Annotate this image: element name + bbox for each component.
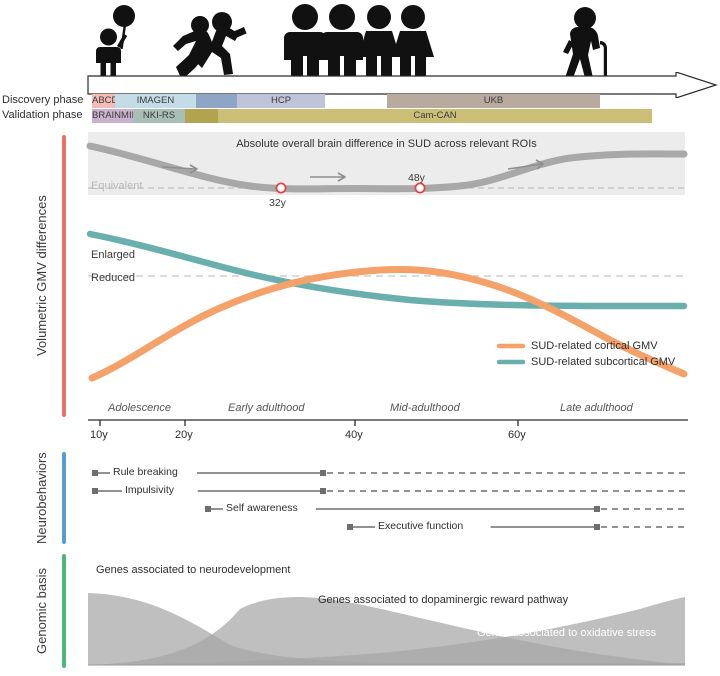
validation-phase-bar[interactable]: BRAINMINTNKI-RSCam-CAN — [0, 109, 720, 123]
phase-segment-label-cam-can: Cam-CAN — [218, 109, 652, 122]
neurobehavior-start-marker — [92, 470, 98, 476]
neurobehavior-label-self-awareness: Self awareness — [226, 502, 298, 514]
era-label-mid-adulthood: Mid-adulthood — [390, 402, 460, 414]
neurobehavior-end-marker — [320, 470, 326, 476]
era-label-early-adulthood: Early adulthood — [228, 402, 304, 414]
tick-label-40y: 40y — [345, 429, 363, 441]
running-adolescents-icon — [173, 12, 247, 80]
elderly-with-cane-icon — [563, 7, 607, 78]
neurobehavior-label-executive-function: Executive function — [378, 520, 463, 532]
era-label-adolescence: Adolescence — [108, 402, 171, 414]
tick-label-10y: 10y — [90, 429, 108, 441]
child-with-balloon-icon — [96, 5, 135, 77]
phase-segment-validation-2[interactable] — [185, 109, 218, 123]
legend-swatches — [497, 340, 527, 370]
neurobehaviors-panel: Rule breakingImpulsivitySelf awarenessEx… — [0, 460, 720, 542]
genomic-label-neurodevelopment: Genes associated to neurodevelopment — [96, 564, 290, 576]
phase-segment-label-ukb: UKB — [387, 94, 600, 107]
neurobehavior-end-marker — [594, 506, 600, 512]
marker-age-32y: 32y — [269, 197, 286, 209]
neurobehavior-start-marker — [92, 488, 98, 494]
phase-segment-discovery-2[interactable] — [196, 94, 237, 108]
phase-segment-label-nki-rs: NKI-RS — [133, 109, 185, 122]
equivalent-baseline-label: Equivalent — [91, 180, 142, 192]
adult-group-icon — [284, 4, 434, 77]
legend-item-cortical: SUD-related cortical GMV — [531, 340, 658, 352]
age-axis — [0, 415, 720, 429]
neurobehavior-end-marker — [594, 524, 600, 530]
phase-segment-label-abcd: ABCD — [92, 94, 115, 107]
neurobehavior-label-rule-breaking: Rule breaking — [113, 466, 178, 478]
neurobehavior-start-marker — [347, 524, 353, 530]
tick-label-20y: 20y — [175, 429, 193, 441]
overall-panel-title: Absolute overall brain difference in SUD… — [88, 138, 685, 150]
neurobehavior-end-marker — [320, 488, 326, 494]
neurobehavior-label-impulsivity: Impulsivity — [125, 484, 174, 496]
genomic-label-dopaminergic: Genes associated to dopaminergic reward … — [318, 594, 568, 606]
genomic-label-oxidative: Genes associated to oxidative stress — [477, 627, 656, 639]
pictogram-row — [0, 0, 720, 80]
legend-item-subcortical: SUD-related subcortical GMV — [531, 356, 675, 368]
axis-label-enlarged: Enlarged — [91, 249, 135, 261]
axis-label-reduced: Reduced — [91, 272, 135, 284]
phase-segment-label-brainmint: BRAINMINT — [92, 109, 133, 122]
neurobehavior-start-marker — [205, 506, 211, 512]
phase-segment-label-imagen: IMAGEN — [115, 94, 196, 107]
neurobehavior-lines — [0, 460, 720, 542]
discovery-phase-bar[interactable]: ABCDIMAGENHCPUKB — [0, 94, 720, 108]
tick-label-60y: 60y — [508, 429, 526, 441]
era-label-late-adulthood: Late adulthood — [560, 402, 633, 414]
phase-segment-label-hcp: HCP — [237, 94, 325, 107]
marker-age-48y: 48y — [408, 172, 425, 184]
